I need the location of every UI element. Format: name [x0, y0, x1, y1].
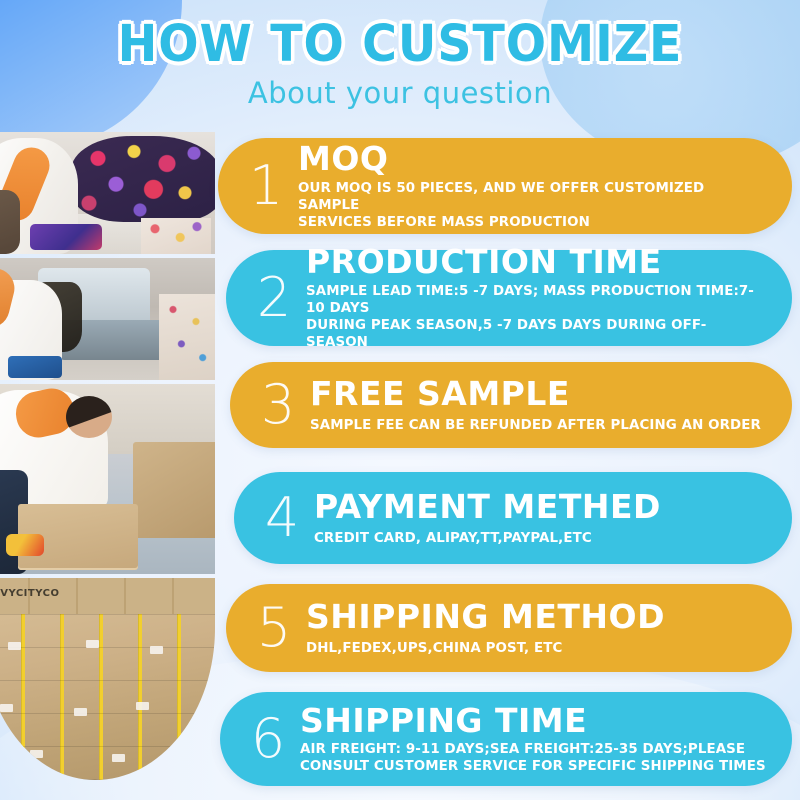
step-number-2: 2: [242, 271, 306, 325]
step-title-1: MOQ: [298, 141, 766, 177]
step-content-3: FREE SAMPLE SAMPLE FEE CAN BE REFUNDED A…: [310, 376, 792, 434]
step-content-6: SHIPPING TIME AIR FREIGHT: 9-11 DAYS;SEA…: [300, 703, 792, 776]
step-body-line-4-1: CREDIT CARD, ALIPAY,TT,PAYPAL,ETC: [314, 530, 766, 547]
step-row-2[interactable]: 2 PRODUCTION TIME SAMPLE LEAD TIME:5 -7 …: [226, 250, 792, 346]
step-number-5: 5: [242, 601, 306, 655]
step-body-line-5-1: DHL,FEDEX,UPS,CHINA POST, ETC: [306, 640, 766, 657]
step-content-1: MOQ OUR MOQ IS 50 PIECES, AND WE OFFER C…: [298, 141, 792, 231]
step-body-line-1-1: OUR MOQ IS 50 PIECES, AND WE OFFER CUSTO…: [298, 180, 766, 214]
step-row-5[interactable]: 5 SHIPPING METHOD DHL,FEDEX,UPS,CHINA PO…: [226, 584, 792, 672]
step-body-line-2-2: DURING PEAK SEASON,5 -7 DAYS DAYS DURING…: [306, 317, 766, 351]
step-row-4[interactable]: 4 PAYMENT METHED CREDIT CARD, ALIPAY,TT,…: [234, 472, 792, 564]
step-number-6: 6: [236, 712, 300, 766]
step-title-5: SHIPPING METHOD: [306, 599, 766, 635]
infographic-page: HOW TO CUSTOMIZE About your question: [0, 0, 800, 800]
step-content-2: PRODUCTION TIME SAMPLE LEAD TIME:5 -7 DA…: [306, 244, 792, 351]
step-number-1: 1: [234, 159, 298, 213]
step-body-line-3-1: SAMPLE FEE CAN BE REFUNDED AFTER PLACING…: [310, 417, 766, 434]
step-number-3: 3: [246, 378, 310, 432]
step-title-6: SHIPPING TIME: [300, 703, 766, 739]
step-content-5: SHIPPING METHOD DHL,FEDEX,UPS,CHINA POST…: [306, 599, 792, 657]
page-subtitle: About your question: [0, 76, 800, 110]
header: HOW TO CUSTOMIZE About your question: [0, 18, 800, 110]
step-row-6[interactable]: 6 SHIPPING TIME AIR FREIGHT: 9-11 DAYS;S…: [220, 692, 792, 786]
step-title-2: PRODUCTION TIME: [306, 244, 766, 280]
step-content-4: PAYMENT METHED CREDIT CARD, ALIPAY,TT,PA…: [314, 489, 792, 547]
step-body-line-2-1: SAMPLE LEAD TIME:5 -7 DAYS; MASS PRODUCT…: [306, 283, 766, 317]
step-title-4: PAYMENT METHED: [314, 489, 766, 525]
step-number-4: 4: [250, 491, 314, 545]
step-title-3: FREE SAMPLE: [310, 376, 766, 412]
step-row-1[interactable]: 1 MOQ OUR MOQ IS 50 PIECES, AND WE OFFER…: [218, 138, 792, 234]
step-body-line-1-2: SERVICES BEFORE MASS PRODUCTION: [298, 214, 766, 231]
page-title: HOW TO CUSTOMIZE: [28, 18, 772, 72]
step-body-line-6-1: AIR FREIGHT: 9-11 DAYS;SEA FREIGHT:25-35…: [300, 741, 766, 758]
steps-list: 1 MOQ OUR MOQ IS 50 PIECES, AND WE OFFER…: [0, 0, 800, 800]
step-row-3[interactable]: 3 FREE SAMPLE SAMPLE FEE CAN BE REFUNDED…: [230, 362, 792, 448]
step-body-line-6-2: CONSULT CUSTOMER SERVICE FOR SPECIFIC SH…: [300, 758, 766, 775]
